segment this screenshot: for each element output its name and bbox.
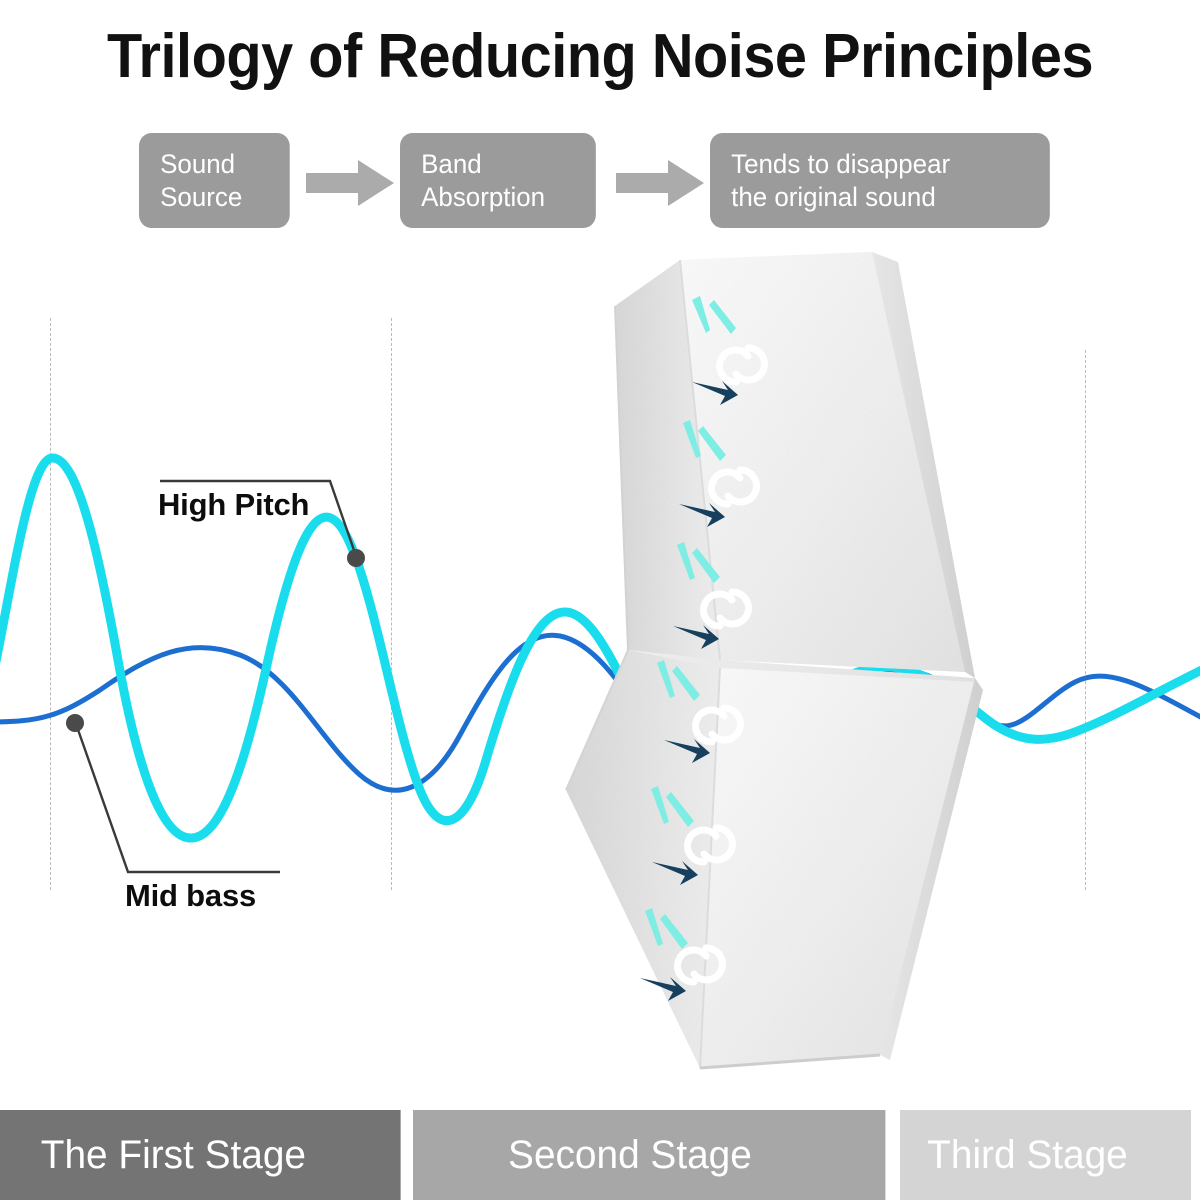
callout-label-high-pitch: High Pitch	[158, 487, 309, 523]
stage-item-second[interactable]: Second Stage	[413, 1110, 885, 1200]
callout-leaders	[0, 0, 1200, 1200]
stage-progress-bar: The First Stage Second Stage Third Stage	[0, 1110, 1200, 1200]
mid-bass-leader	[76, 724, 280, 872]
high-pitch-anchor-dot	[347, 549, 365, 567]
mid-bass-anchor-dot	[66, 714, 84, 732]
callout-label-mid-bass: Mid bass	[125, 878, 256, 914]
stage-item-third[interactable]: Third Stage	[900, 1110, 1191, 1200]
infographic-canvas: Trilogy of Reducing Noise Principles Sou…	[0, 0, 1200, 1200]
stage-item-first[interactable]: The First Stage	[0, 1110, 401, 1200]
